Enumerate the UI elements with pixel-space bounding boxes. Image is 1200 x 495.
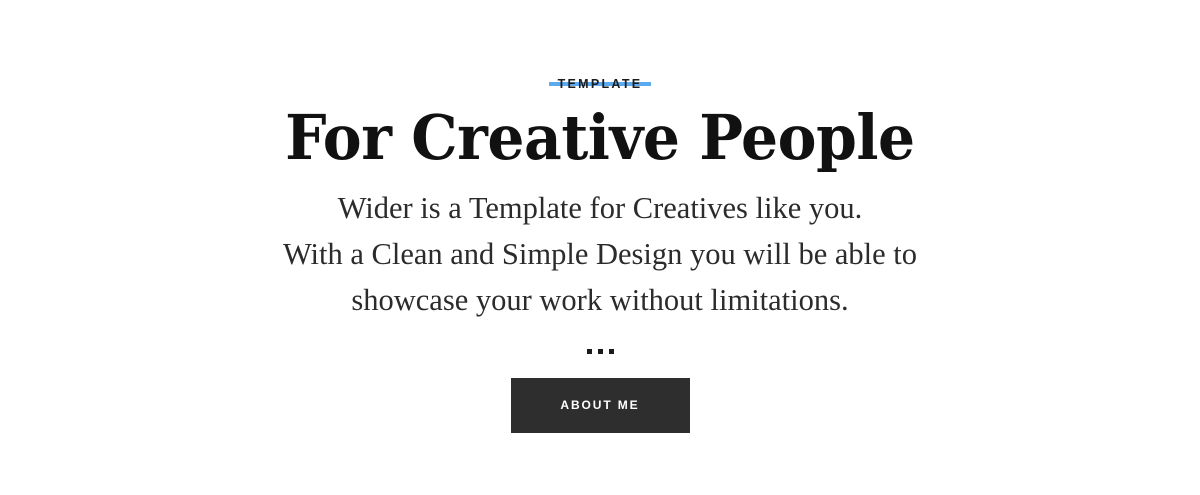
page-title: For Creative People [285, 91, 915, 169]
hero-description-line-3: showcase your work without limitations. [150, 277, 1050, 323]
about-me-button-label: ABOUT ME [560, 399, 639, 411]
eyebrow-label: TEMPLATE [558, 78, 643, 91]
hero-description-line-2: With a Clean and Simple Design you will … [150, 231, 1050, 277]
hero-description: Wider is a Template for Creatives like y… [150, 169, 1050, 323]
eyebrow-container: TEMPLATE [552, 78, 649, 91]
three-dots-icon [587, 343, 614, 361]
dot-3 [609, 349, 614, 354]
hero-section: TEMPLATE For Creative People Wider is a … [0, 0, 1200, 495]
dot-1 [587, 349, 592, 354]
hero-description-line-1: Wider is a Template for Creatives like y… [150, 185, 1050, 231]
about-me-button[interactable]: ABOUT ME [511, 378, 690, 433]
dot-2 [598, 349, 603, 354]
